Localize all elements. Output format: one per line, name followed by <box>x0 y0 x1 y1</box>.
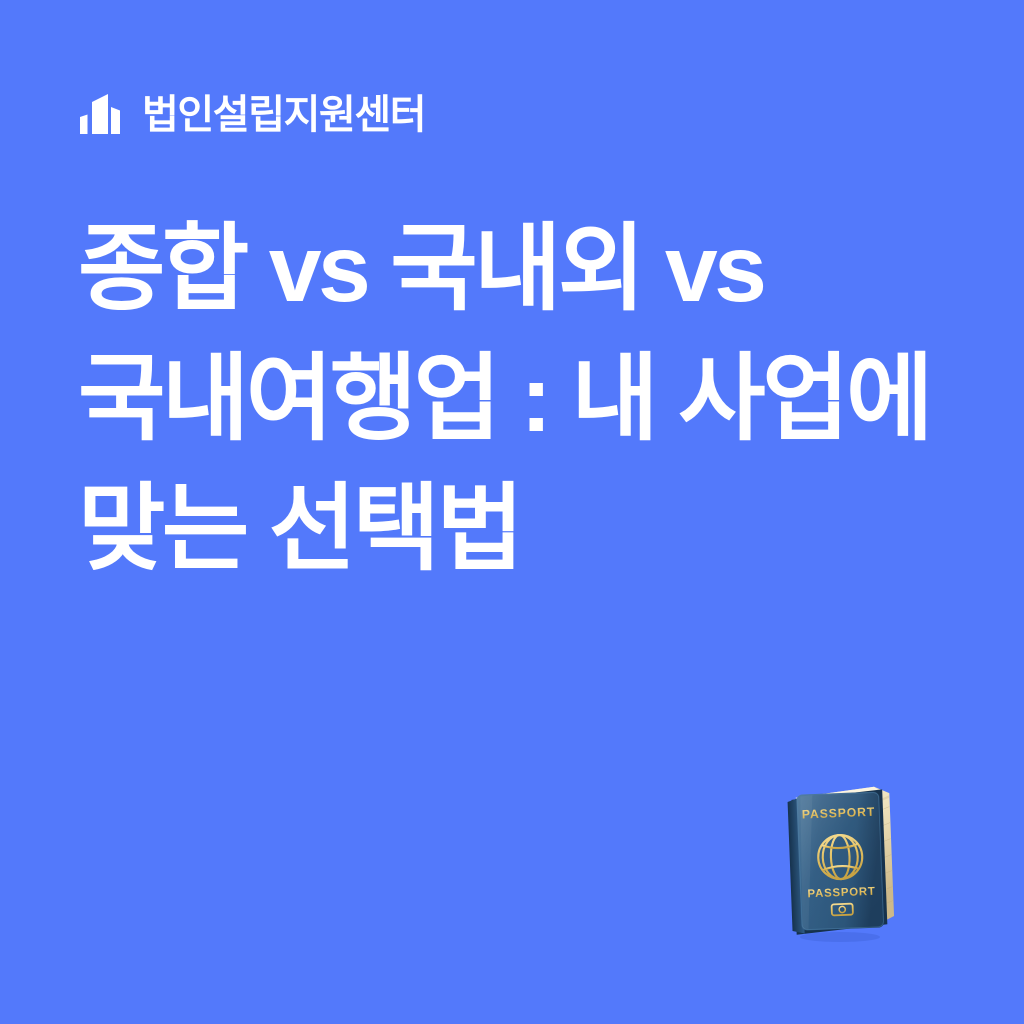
globe-icon <box>817 834 863 880</box>
brand-name: 법인설립지원센터 <box>142 95 425 135</box>
headline-line-2: 국내여행업 : 내 사업에 <box>78 334 978 464</box>
passport-top-label: PASSPORT <box>802 805 876 822</box>
headline-line-3: 맞는 선택법 <box>78 464 978 594</box>
headline-line-1: 종합 vs 국내외 vs <box>78 204 978 334</box>
building-skyline-icon <box>78 89 128 139</box>
passport-illustration: PASSPORT PASSPORT <box>782 782 902 947</box>
brand-lockup: 법인설립지원센터 <box>78 88 425 140</box>
page-title: 종합 vs 국내외 vs 국내여행업 : 내 사업에 맞는 선택법 <box>78 204 978 594</box>
